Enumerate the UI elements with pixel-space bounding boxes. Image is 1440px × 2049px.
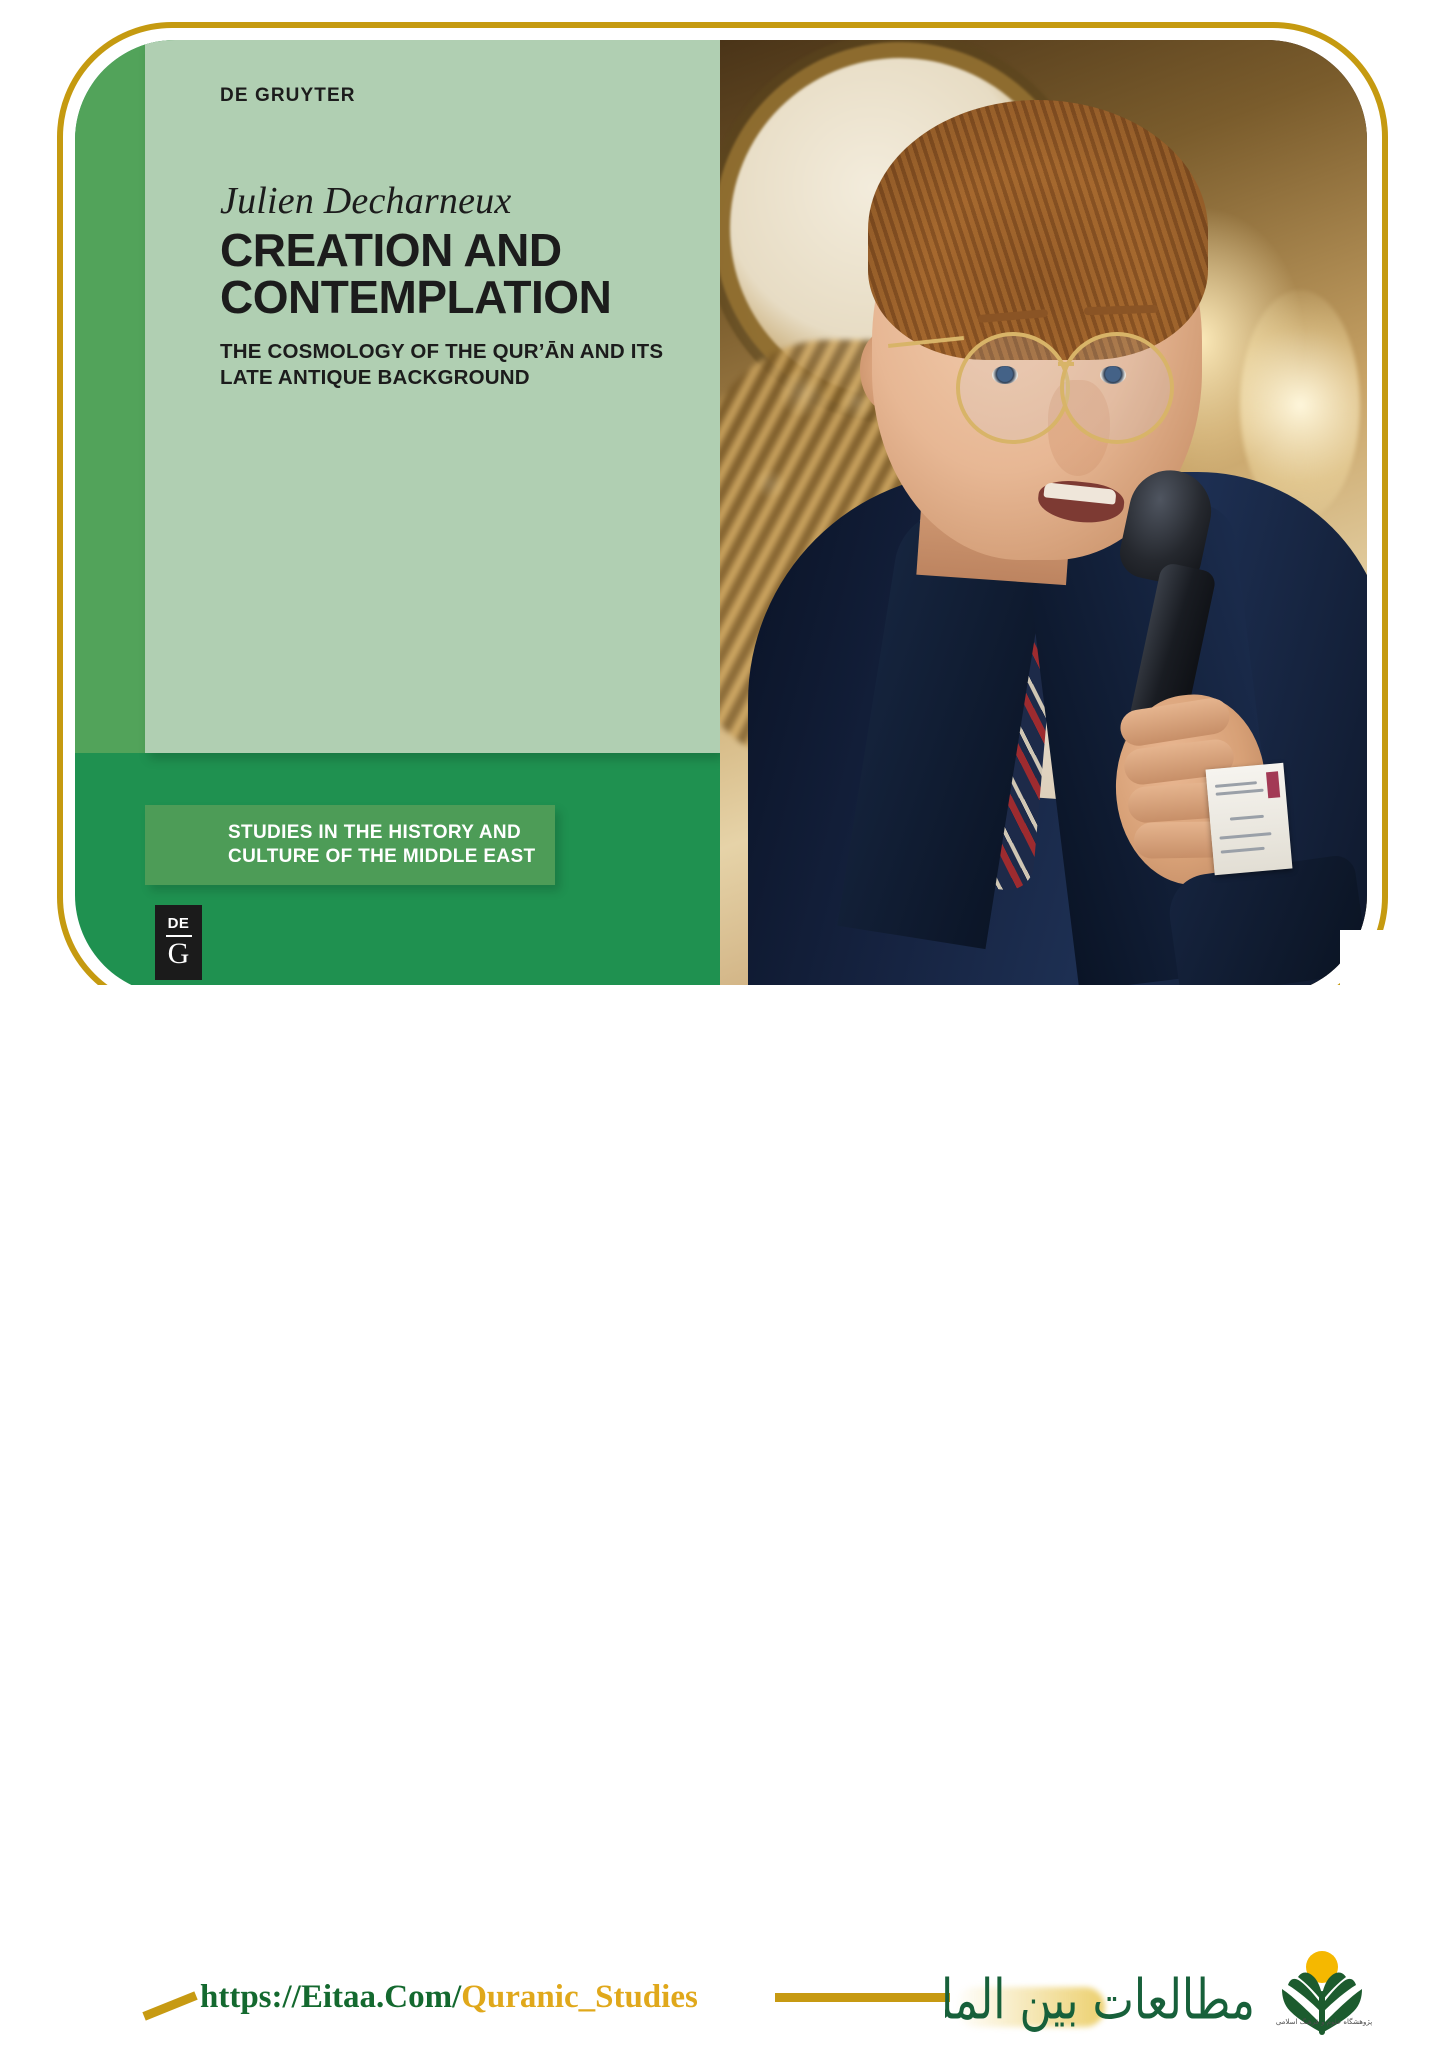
de-gruyter-imprint-logo: DE G (155, 905, 202, 980)
book-subtitle: THE COSMOLOGY OF THE QUR’ĀN AND ITS LATE… (220, 339, 680, 391)
book-cover-panel: DE GRUYTER Julien Decharneux CREATION AN… (75, 40, 720, 995)
channel-url-path: Quranic_Studies (461, 1979, 698, 2015)
footer-bar: https://Eitaa.Com/Quranic_Studies مطالعا… (0, 985, 1440, 1080)
speaker-figure (720, 40, 1367, 995)
book-front-cover: DE GRUYTER Julien Decharneux CREATION AN… (145, 40, 720, 753)
de-gruyter-logo-g: G (168, 939, 190, 969)
badge-text-line (1215, 781, 1257, 788)
conference-name-badge (1206, 763, 1293, 875)
book-author: Julien Decharneux (220, 179, 680, 223)
book-series-band: STUDIES IN THE HISTORY AND CULTURE OF TH… (145, 805, 555, 885)
institute-logo-icon (1268, 1947, 1376, 2047)
quranic-studies-calligraphy-wordmark: مطالعات بين المللي قرآن كريم (945, 1953, 1255, 2049)
badge-color-tab (1266, 771, 1280, 798)
footer-rule-left (142, 1991, 197, 2020)
badge-text-line (1219, 832, 1271, 840)
slide-content-card: DE GRUYTER Julien Decharneux CREATION AN… (75, 40, 1367, 995)
badge-text-line (1216, 789, 1264, 796)
speaker-photograph (720, 40, 1367, 995)
eyeglasses-lens-right (1060, 332, 1174, 444)
book-title: CREATION AND CONTEMPLATION (220, 227, 680, 321)
channel-url-host: https://Eitaa.Com/ (200, 1979, 461, 2015)
publisher-wordmark: DE GRUYTER (220, 85, 680, 107)
badge-text-line (1230, 815, 1264, 821)
eyeglasses-lens-left (956, 332, 1070, 444)
footer-rule-right (775, 1993, 950, 2002)
badge-text-line (1221, 847, 1265, 854)
eyeglasses-bridge (1058, 362, 1074, 366)
book-cover-inner: DE GRUYTER Julien Decharneux CREATION AN… (145, 40, 720, 753)
de-gruyter-logo-de: DE (168, 916, 190, 931)
calligraphy-text: مطالعات بين المللي قرآن كريم (945, 1974, 1255, 2029)
book-series-label: STUDIES IN THE HISTORY AND CULTURE OF TH… (145, 821, 555, 869)
channel-url[interactable]: https://Eitaa.Com/Quranic_Studies (200, 1979, 698, 2016)
hair (868, 100, 1208, 360)
institute-caption: پژوهشگاه علوم و فرهنگ اسلامی (1268, 2017, 1380, 2028)
